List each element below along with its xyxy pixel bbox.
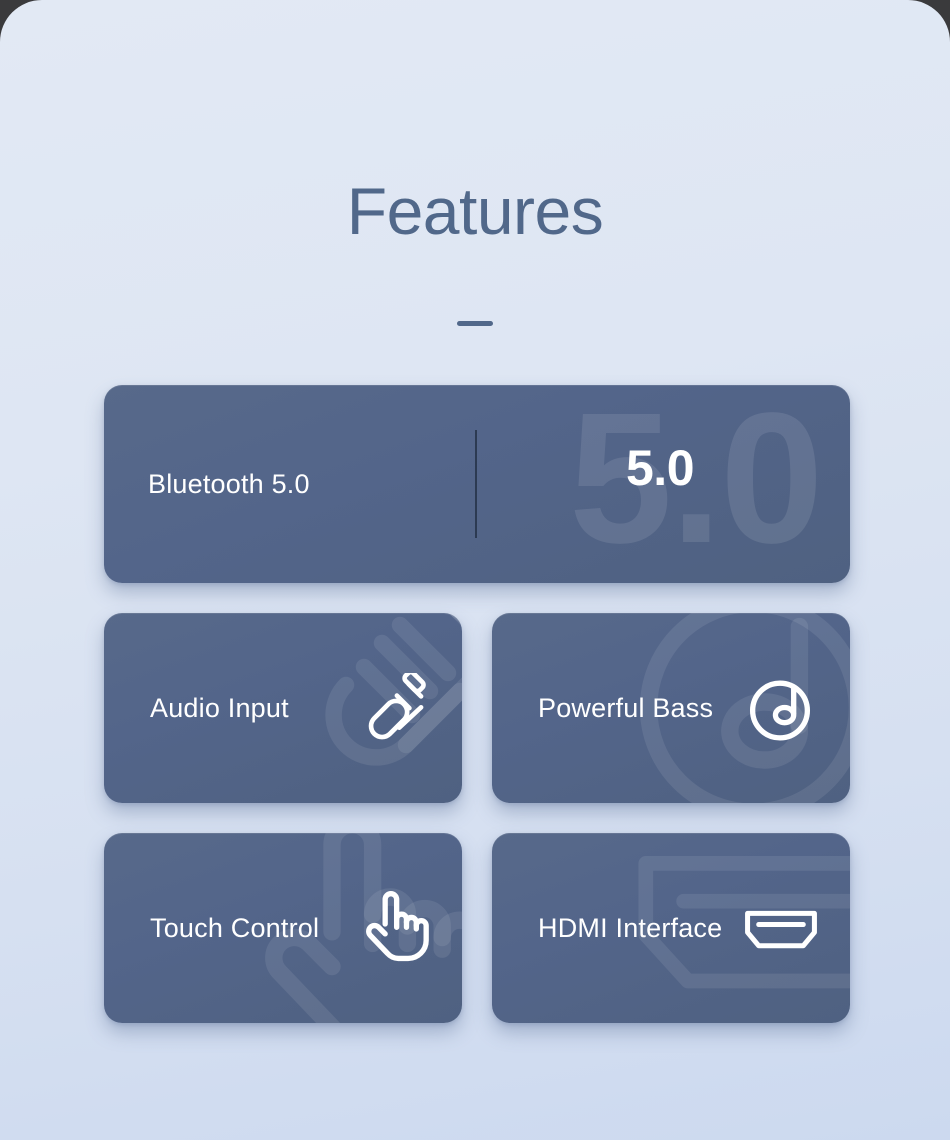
features-row-1: Bluetooth 5.0 5.0 5.0 [104, 385, 850, 583]
audio-jack-plug-icon [354, 673, 432, 751]
feature-label-audio-input: Audio Input [150, 693, 289, 724]
feature-label-touch-control: Touch Control [150, 913, 319, 944]
feature-label-bluetooth: Bluetooth 5.0 [148, 469, 310, 500]
features-section: Features Bluetooth 5.0 5.0 5.0 Audio Inp… [0, 0, 950, 1140]
title-underline-dash [457, 321, 493, 326]
feature-label-powerful-bass: Powerful Bass [538, 693, 713, 724]
page-title: Features [0, 178, 950, 244]
bluetooth-version-value: 5.0 [626, 443, 694, 493]
feature-label-hdmi-interface: HDMI Interface [538, 913, 722, 944]
music-note-circle-icon [742, 671, 818, 747]
tap-hand-icon [354, 881, 436, 967]
section-header: Features [0, 0, 950, 326]
card-divider [475, 430, 477, 538]
features-grid: Bluetooth 5.0 5.0 5.0 Audio Input [104, 385, 850, 1023]
feature-card-touch-control[interactable]: Touch Control [104, 833, 462, 1023]
feature-card-powerful-bass[interactable]: Powerful Bass [492, 613, 850, 803]
bluetooth-version-watermark: 5.0 [569, 385, 822, 579]
features-row-3: Touch Control [104, 833, 850, 1023]
feature-card-bluetooth[interactable]: Bluetooth 5.0 5.0 5.0 [104, 385, 850, 583]
features-row-2: Audio Input [104, 613, 850, 803]
feature-card-hdmi-interface[interactable]: HDMI Interface [492, 833, 850, 1023]
feature-card-audio-input[interactable]: Audio Input [104, 613, 462, 803]
hdmi-port-icon [742, 901, 820, 957]
